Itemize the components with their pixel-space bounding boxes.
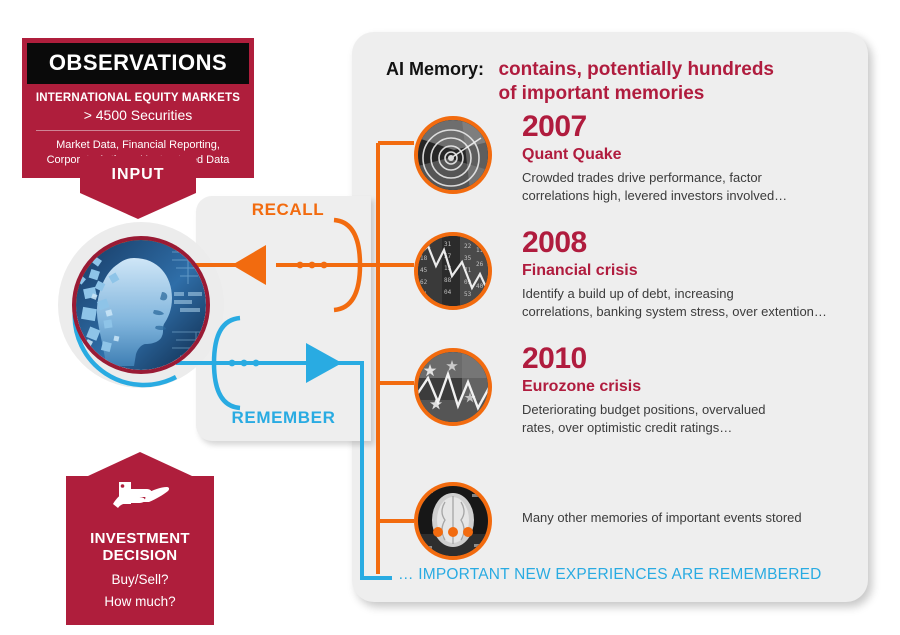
panel-header: AI Memory: contains, potentially hundred…: [386, 58, 856, 107]
svg-text:62: 62: [420, 279, 428, 286]
radar-target-sweep-thumbnail: [414, 116, 492, 194]
svg-text:35: 35: [464, 255, 472, 262]
memory-item-2007[interactable]: 2007 Quant Quake Crowded trades drive pe…: [414, 116, 884, 206]
remember-label: REMEMBER: [196, 408, 371, 428]
memory-description: Crowded trades drive performance, factor…: [522, 169, 882, 206]
decision-title-line2: DECISION: [103, 547, 178, 564]
memory-text-2007: 2007 Quant Quake Crowded trades drive pe…: [522, 112, 882, 206]
input-arrow-point: [80, 193, 196, 219]
observations-detail-line1: Market Data, Financial Reporting,: [56, 139, 220, 151]
svg-text:26: 26: [476, 261, 484, 268]
svg-text:22: 22: [464, 243, 472, 250]
memory-year: 2007: [522, 112, 882, 142]
decision-title-line1: INVESTMENT: [90, 530, 190, 547]
svg-text:53: 53: [464, 291, 472, 298]
observations-title: OBSERVATIONS: [27, 43, 249, 84]
memory-text-2008: 2008 Financial crisis Identify a build u…: [522, 228, 882, 322]
memory-name: Quant Quake: [522, 146, 882, 164]
more-memories-text: Many other memories of important events …: [522, 510, 900, 525]
memory-desc-line2: correlations high, levered investors inv…: [522, 188, 787, 203]
memory-item-2010[interactable]: 2010 Eurozone crisis Deteriorating budge…: [414, 348, 884, 438]
memory-description: Deteriorating budget positions, overvalu…: [522, 401, 882, 438]
decision-question-1: Buy/Sell?: [72, 572, 208, 587]
svg-text:11: 11: [476, 247, 484, 254]
memory-year: 2008: [522, 228, 882, 258]
svg-text:04: 04: [444, 289, 452, 296]
memory-description: Identify a build up of debt, increasing …: [522, 285, 882, 322]
stock-ticker-board-thumbnail: 4.118 456221 3157 138804 2235 710953 112…: [414, 232, 492, 310]
decision-title: INVESTMENT DECISION: [72, 530, 208, 565]
memory-desc-line2: correlations, banking system stress, ove…: [522, 304, 827, 319]
svg-text:18: 18: [420, 255, 428, 262]
memory-item-2008[interactable]: 4.118 456221 3157 138804 2235 710953 112…: [414, 232, 884, 322]
brain-scan-thumbnail: [414, 482, 492, 560]
decision-question-2: How much?: [72, 594, 208, 609]
memory-year: 2010: [522, 344, 882, 374]
memory-name: Eurozone crisis: [522, 378, 882, 396]
memory-desc-line1: Identify a build up of debt, increasing: [522, 286, 734, 301]
input-label: INPUT: [80, 156, 196, 193]
memory-desc-line2: rates, over optimistic credit ratings…: [522, 420, 732, 435]
investment-decision-card: INVESTMENT DECISION Buy/Sell? How much?: [66, 452, 214, 625]
hand-with-price-tag-icon: [109, 480, 171, 520]
header-main-line2: of important memories: [498, 83, 704, 104]
observations-subtitle: INTERNATIONAL EQUITY MARKETS: [22, 84, 254, 106]
svg-text:31: 31: [444, 241, 452, 248]
svg-text:21: 21: [420, 291, 428, 298]
memory-text-2010: 2010 Eurozone crisis Deteriorating budge…: [522, 344, 882, 438]
observations-securities: > 4500 Securities: [22, 106, 254, 130]
infographic-canvas: AI Memory: contains, potentially hundred…: [0, 0, 900, 635]
memory-item-more[interactable]: Many other memories of important events …: [414, 482, 884, 572]
bottom-note: … IMPORTANT NEW EXPERIENCES ARE REMEMBER…: [398, 566, 848, 584]
svg-text:40: 40: [476, 283, 484, 290]
ai-head-profile-icon[interactable]: [72, 236, 210, 374]
eu-stars-chart-thumbnail: [414, 348, 492, 426]
input-arrow: INPUT: [80, 156, 196, 219]
header-main-line1: contains, potentially hundreds: [498, 59, 774, 80]
header-lead-label: AI Memory:: [386, 58, 484, 80]
svg-text:88: 88: [444, 277, 452, 284]
memory-desc-line1: Deteriorating budget positions, overvalu…: [522, 402, 766, 417]
header-main-label: contains, potentially hundreds of import…: [498, 58, 838, 107]
memory-name: Financial crisis: [522, 262, 882, 280]
observations-divider: [36, 130, 240, 131]
recall-label: RECALL: [228, 200, 348, 220]
memory-desc-line1: Crowded trades drive performance, factor: [522, 170, 762, 185]
decision-arrow-notch: [88, 452, 192, 476]
decision-body: INVESTMENT DECISION Buy/Sell? How much?: [66, 476, 214, 625]
svg-text:45: 45: [420, 267, 428, 274]
